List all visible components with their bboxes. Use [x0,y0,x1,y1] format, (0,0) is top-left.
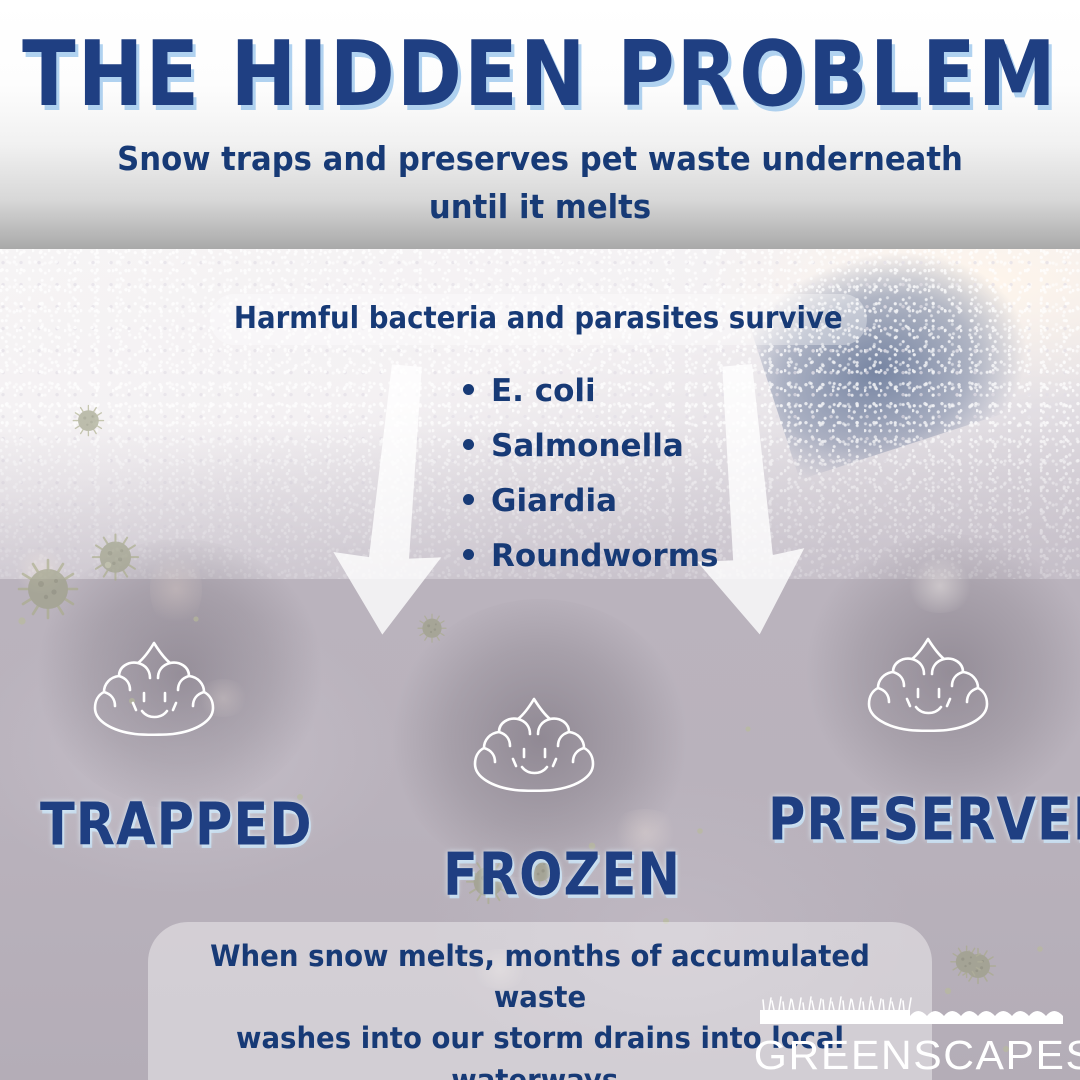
stage-label-trapped: TRAPPED [40,790,313,858]
bacteria-banner: Harmful bacteria and parasites survive [210,294,867,345]
poop-icon-frozen [468,687,600,805]
logo-wordmark: GREENSCAPES [754,1035,1078,1076]
logo[interactable]: GREENSCAPES [760,994,1072,1076]
list-item: Salmonella [491,431,718,462]
stage-label-frozen: FROZEN [443,840,681,908]
poop-icon-preserved [862,627,994,745]
down-arrow-icon-left [318,361,468,641]
list-item: Giardia [491,486,718,517]
page-subtitle: Snow traps and preserves pet waste under… [70,135,1009,231]
subtitle-line-2: until it melts [70,183,1009,231]
poop-icon-trapped [88,631,220,749]
list-item: Roundworms [491,541,718,572]
list-item: E. coli [491,376,718,407]
stage-label-preserved: PRESERVED [768,785,1080,853]
subtitle-line-1: Snow traps and preserves pet waste under… [70,135,1009,183]
page-title: THE HIDDEN PROBLEM [0,22,1080,127]
pathogen-list: E. coli Salmonella Giardia Roundworms [455,376,718,596]
header-band: THE HIDDEN PROBLEM Snow traps and preser… [0,0,1080,249]
infographic-canvas: THE HIDDEN PROBLEM Snow traps and preser… [0,0,1080,1080]
grass-and-waves-icon [760,994,1072,1028]
